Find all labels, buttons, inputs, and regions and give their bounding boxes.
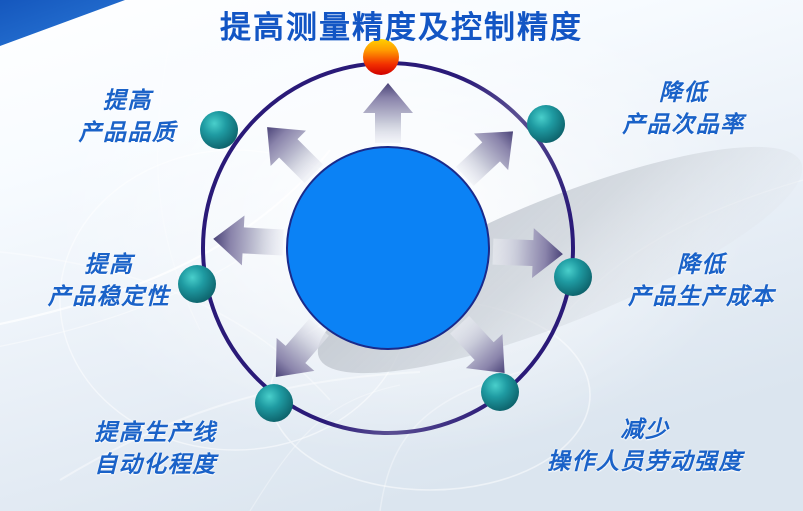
node-production-cost-sphere[interactable] — [554, 258, 592, 296]
node-labor-intensity-sphere[interactable] — [481, 373, 519, 411]
arrow-to-node-product-stability — [212, 214, 285, 268]
node-defect-rate-label-line1: 降低 — [659, 80, 708, 106]
diagram-canvas: 提高测量精度及控制精度 提高产品品质降低产品次品率提高产品稳定性降低产品生产成本… — [0, 0, 803, 511]
node-product-quality-label: 提高产品品质 — [40, 86, 215, 149]
node-automation-label-line2: 自动化程度 — [48, 450, 263, 482]
node-product-quality-label-line1: 提高 — [103, 88, 152, 114]
node-production-cost-label: 降低产品生产成本 — [604, 250, 799, 313]
node-labor-intensity-label: 减少操作人员劳动强度 — [500, 415, 790, 478]
node-defect-rate-label-line2: 产品次品率 — [576, 110, 791, 142]
arrow-to-node-production-cost — [492, 227, 564, 279]
node-production-cost-label-line2: 产品生产成本 — [604, 282, 799, 314]
node-product-stability-label-line2: 产品稳定性 — [14, 282, 204, 314]
page-title-text: 提高测量精度及控制精度 — [220, 10, 583, 46]
node-product-quality-label-line2: 产品品质 — [40, 118, 215, 150]
page-title: 提高测量精度及控制精度 — [0, 2, 803, 47]
node-automation-label-line1: 提高生产线 — [94, 420, 217, 446]
node-defect-rate-label: 降低产品次品率 — [576, 78, 791, 141]
node-product-stability-label: 提高产品稳定性 — [14, 250, 204, 313]
node-labor-intensity-label-line1: 减少 — [621, 417, 670, 443]
center-hub[interactable] — [287, 147, 489, 349]
node-automation-sphere[interactable] — [255, 384, 293, 422]
node-product-stability-label-line1: 提高 — [85, 252, 134, 278]
node-automation-label: 提高生产线自动化程度 — [48, 418, 263, 481]
node-defect-rate-sphere[interactable] — [527, 105, 565, 143]
node-production-cost-label-line1: 降低 — [677, 252, 726, 278]
arrow-up — [363, 83, 413, 143]
node-labor-intensity-label-line2: 操作人员劳动强度 — [500, 447, 790, 479]
